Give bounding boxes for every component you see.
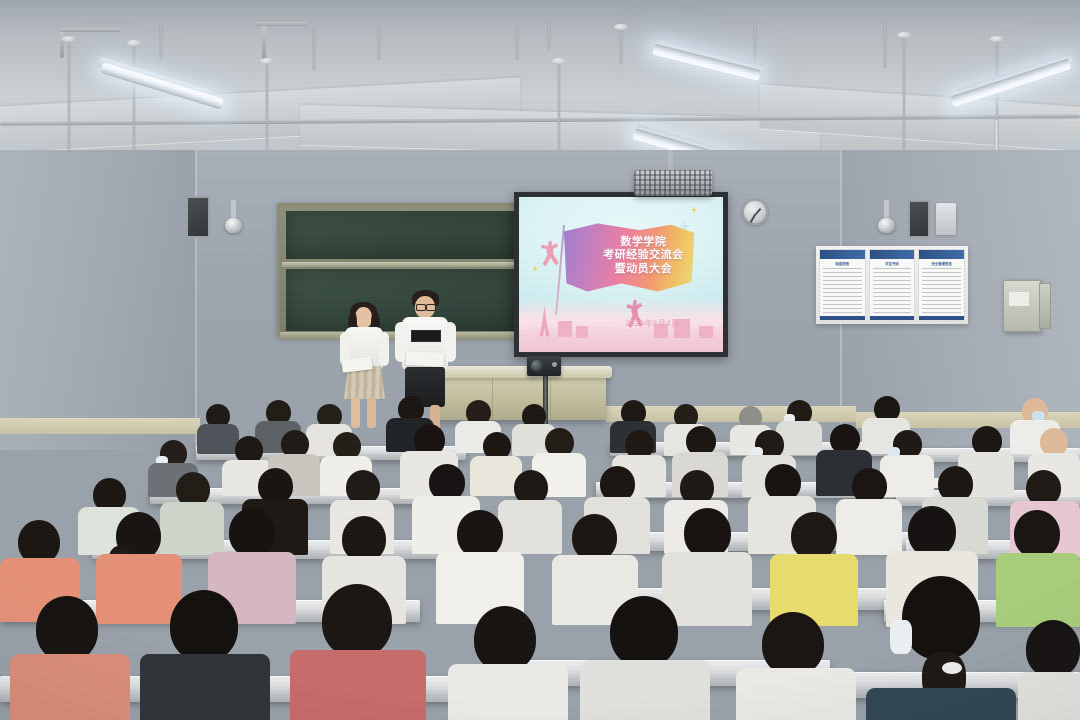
student-head <box>457 510 503 558</box>
clock-minute-hand <box>750 214 756 223</box>
face-mask <box>890 620 912 654</box>
poster-body-lines <box>823 268 862 313</box>
presenter-arm <box>379 332 389 366</box>
eyeglasses-icon <box>426 304 436 311</box>
student-body <box>736 668 856 720</box>
poster-title: 安全管理规定 <box>919 259 964 267</box>
student-head <box>762 612 824 676</box>
slide-building-icon <box>558 321 572 337</box>
student-head <box>610 596 678 668</box>
student-body <box>1018 672 1080 720</box>
hair-tie <box>942 662 962 674</box>
slide-date: 2020年6月4日 <box>625 318 719 329</box>
student-body <box>866 688 1016 720</box>
slide-title: 数学学院 考研经验交流会 暨动员大会 <box>580 236 706 277</box>
tripod-video-camera[interactable] <box>527 356 561 376</box>
eyeglasses-icon <box>416 304 426 311</box>
poster: 制度职责 <box>819 249 866 321</box>
student-body <box>10 654 130 720</box>
tshirt-graphic-print <box>411 330 441 342</box>
student-head <box>36 596 98 662</box>
slide-building-icon <box>576 326 588 338</box>
student-head <box>1026 620 1080 678</box>
electrical-panel-box[interactable] <box>1003 280 1041 332</box>
poster-title: 学生守则 <box>870 259 915 267</box>
fluorescent-tube-light <box>950 58 1071 107</box>
student-body <box>140 654 270 720</box>
slide-star-icon: ✦ <box>531 265 539 274</box>
presenter-arm <box>444 322 456 362</box>
poster-header <box>870 250 915 259</box>
poster: 安全管理规定 <box>918 249 965 321</box>
presenter-head <box>355 307 372 328</box>
presenter-script-paper <box>406 351 445 367</box>
camera-lens-icon <box>531 360 543 372</box>
student-head <box>572 514 617 561</box>
camera-stem <box>231 200 236 220</box>
poster-title: 制度职责 <box>820 259 865 267</box>
student-head <box>791 512 837 560</box>
student-head <box>474 606 536 672</box>
camera-indicator-icon <box>552 362 557 367</box>
poster-header <box>919 250 964 259</box>
student-head <box>322 584 392 658</box>
slide-jumping-figure <box>539 240 561 266</box>
panel-door[interactable] <box>1039 283 1051 329</box>
student-head <box>229 508 275 557</box>
dome-security-camera <box>225 218 242 233</box>
student-body <box>580 660 710 720</box>
student-body <box>448 664 568 720</box>
left-wall <box>0 150 196 450</box>
student-head <box>1040 428 1068 456</box>
student-body <box>290 650 426 720</box>
student-head <box>170 590 238 662</box>
audience-member <box>770 512 858 624</box>
audience-member <box>580 596 710 720</box>
slide-title-line-3: 暨动员大会 <box>580 263 706 277</box>
dome-security-camera <box>878 218 895 233</box>
slide-title-line-1: 数学学院 <box>580 236 706 250</box>
ceiling-projector <box>634 170 712 196</box>
wall-speaker <box>186 196 210 238</box>
wall-speaker <box>908 200 930 238</box>
poster-footer <box>820 316 865 320</box>
audience-member <box>866 576 1016 720</box>
wall-wainscot-strip <box>0 418 200 434</box>
projection-screen: ✦ ✦ ✛ 数学学院 考研经验交流会 暨动员大会 2020年6月4日 <box>514 192 728 357</box>
student-head <box>1014 510 1060 558</box>
student-head <box>902 576 980 660</box>
camera-stem <box>884 200 889 220</box>
poster-body-lines <box>873 268 912 313</box>
poster-body-lines <box>922 268 961 313</box>
poster-header <box>820 250 865 259</box>
presenter-leg <box>351 398 360 428</box>
slide-star-icon: ✦ <box>690 206 698 215</box>
poster-footer <box>870 316 915 320</box>
slide-title-line-2: 考研经验交流会 <box>580 249 706 263</box>
audience-member <box>736 612 856 720</box>
student-head <box>908 506 956 557</box>
panel-label <box>1009 292 1029 306</box>
audience-member <box>10 596 130 720</box>
projected-slide: ✦ ✦ ✛ 数学学院 考研经验交流会 暨动员大会 2020年6月4日 <box>519 197 723 352</box>
audience-member <box>140 590 270 720</box>
lecture-hall-photo: ✦ ✦ ✛ 数学学院 考研经验交流会 暨动员大会 2020年6月4日 <box>0 0 1080 720</box>
wall-clock <box>742 199 768 225</box>
air-conditioner-unit <box>936 203 956 235</box>
wall-poster-board: 制度职责 学生守则 安全管理规定 <box>816 246 968 324</box>
audience-member <box>1018 620 1080 720</box>
audience-member <box>448 606 568 720</box>
presenter-leg <box>367 398 376 428</box>
poster: 学生守则 <box>869 249 916 321</box>
poster-footer <box>919 316 964 320</box>
student-head <box>684 508 731 558</box>
audience-member <box>290 584 426 720</box>
